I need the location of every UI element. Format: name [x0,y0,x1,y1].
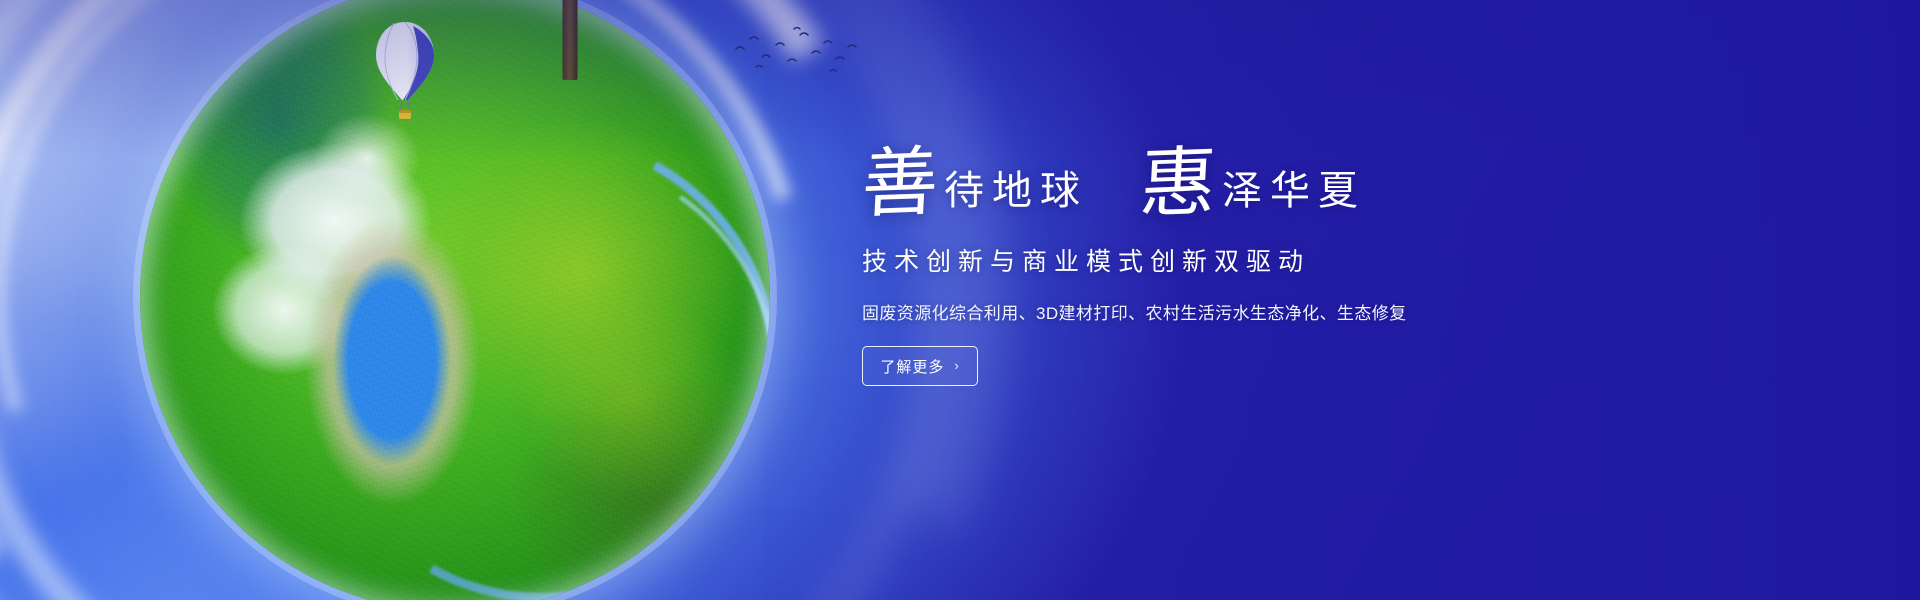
headline-text-daidiqiu: 待地球 [944,171,1088,220]
planet-rim-light [140,0,770,600]
bird-flock-icon [732,27,862,79]
hero-description: 固废资源化综合利用、3D建材打印、农村生活污水生态净化、生态修复 [862,299,1562,324]
chevron-right-icon: › [954,358,959,373]
hero-subtitle: 技术创新与商业模式创新双驱动 [862,242,1562,278]
planet-stage [140,0,770,600]
headline-char-shan: 善 [860,150,940,221]
hero-banner: 善 待地球 惠 泽华夏 技术创新与商业模式创新双驱动 固废资源化综合利用、3D建… [0,0,1920,600]
page-title: 善 待地球 惠 泽华夏 [862,128,1562,220]
tiny-planet-earth [140,0,770,600]
headline-char-hui: 惠 [1138,150,1218,221]
hot-air-balloon-icon [372,20,438,124]
hero-content: 善 待地球 惠 泽华夏 技术创新与商业模式创新双驱动 固废资源化综合利用、3D建… [862,128,1562,386]
headline-text-zehuaxia: 泽华夏 [1222,171,1366,220]
learn-more-button[interactable]: 了解更多 › [862,346,978,386]
learn-more-label: 了解更多 [880,356,944,377]
